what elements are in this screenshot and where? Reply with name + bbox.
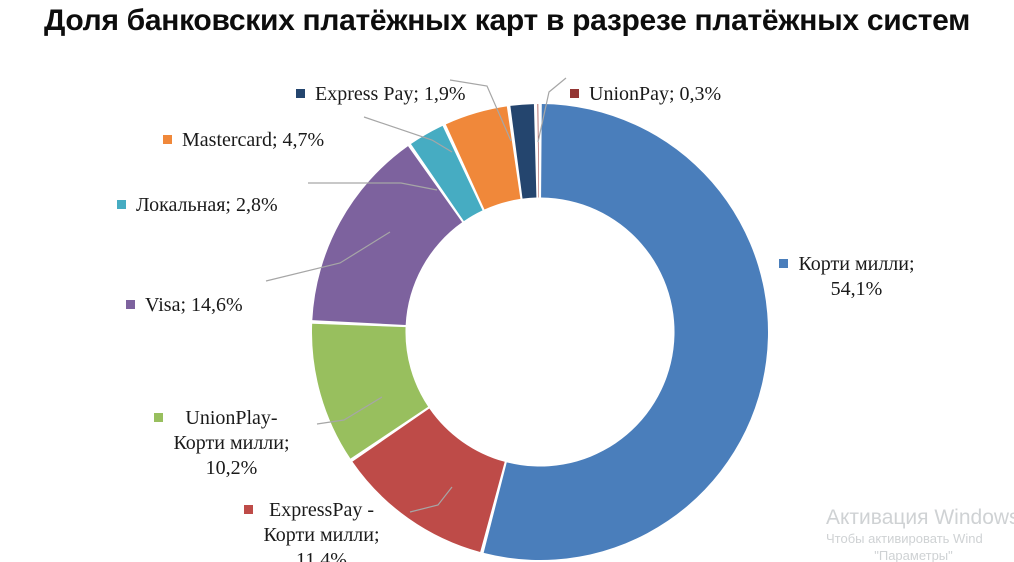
- data-label-express-pay: Express Pay; 1,9%: [296, 57, 466, 107]
- data-label-lokalnaya: Локальная; 2,8%: [117, 168, 278, 218]
- legend-marker-visa: [126, 300, 135, 309]
- legend-marker-express-pay: [296, 89, 305, 98]
- data-label-unionpay: UnionPay; 0,3%: [570, 57, 721, 107]
- legend-marker-lokalnaya: [117, 200, 126, 209]
- data-label-mastercard: Mastercard; 4,7%: [163, 103, 324, 153]
- watermark-title: Активация Windows: [826, 505, 1014, 530]
- legend-marker-mastercard: [163, 135, 172, 144]
- windows-activation-watermark: Активация Windows Чтобы активировать Win…: [826, 505, 1014, 562]
- data-label-korti-milli: Корти милли; 54,1%: [757, 227, 937, 302]
- legend-marker-unionplay: [154, 413, 163, 422]
- watermark-subtitle: Чтобы активировать Wind: [826, 530, 1014, 547]
- data-label-visa: Visa; 14,6%: [126, 268, 243, 318]
- data-label-expresspay-korti-milli: ExpressPay - Корти милли; 11,4%: [206, 473, 418, 562]
- doughnut-slice: [537, 104, 538, 197]
- legend-marker-unionpay: [570, 89, 579, 98]
- watermark-subtitle-2: "Параметры": [826, 547, 1001, 562]
- legend-marker-expresspay-korti-milli: [244, 505, 253, 514]
- chart-page: Доля банковских платёжных карт в разрезе…: [0, 0, 1014, 562]
- legend-marker-korti-milli: [779, 259, 788, 268]
- page-title: Доля банковских платёжных карт в разрезе…: [0, 2, 1014, 40]
- data-label-unionplay: UnionPlay- Корти милли; 10,2%: [116, 381, 328, 481]
